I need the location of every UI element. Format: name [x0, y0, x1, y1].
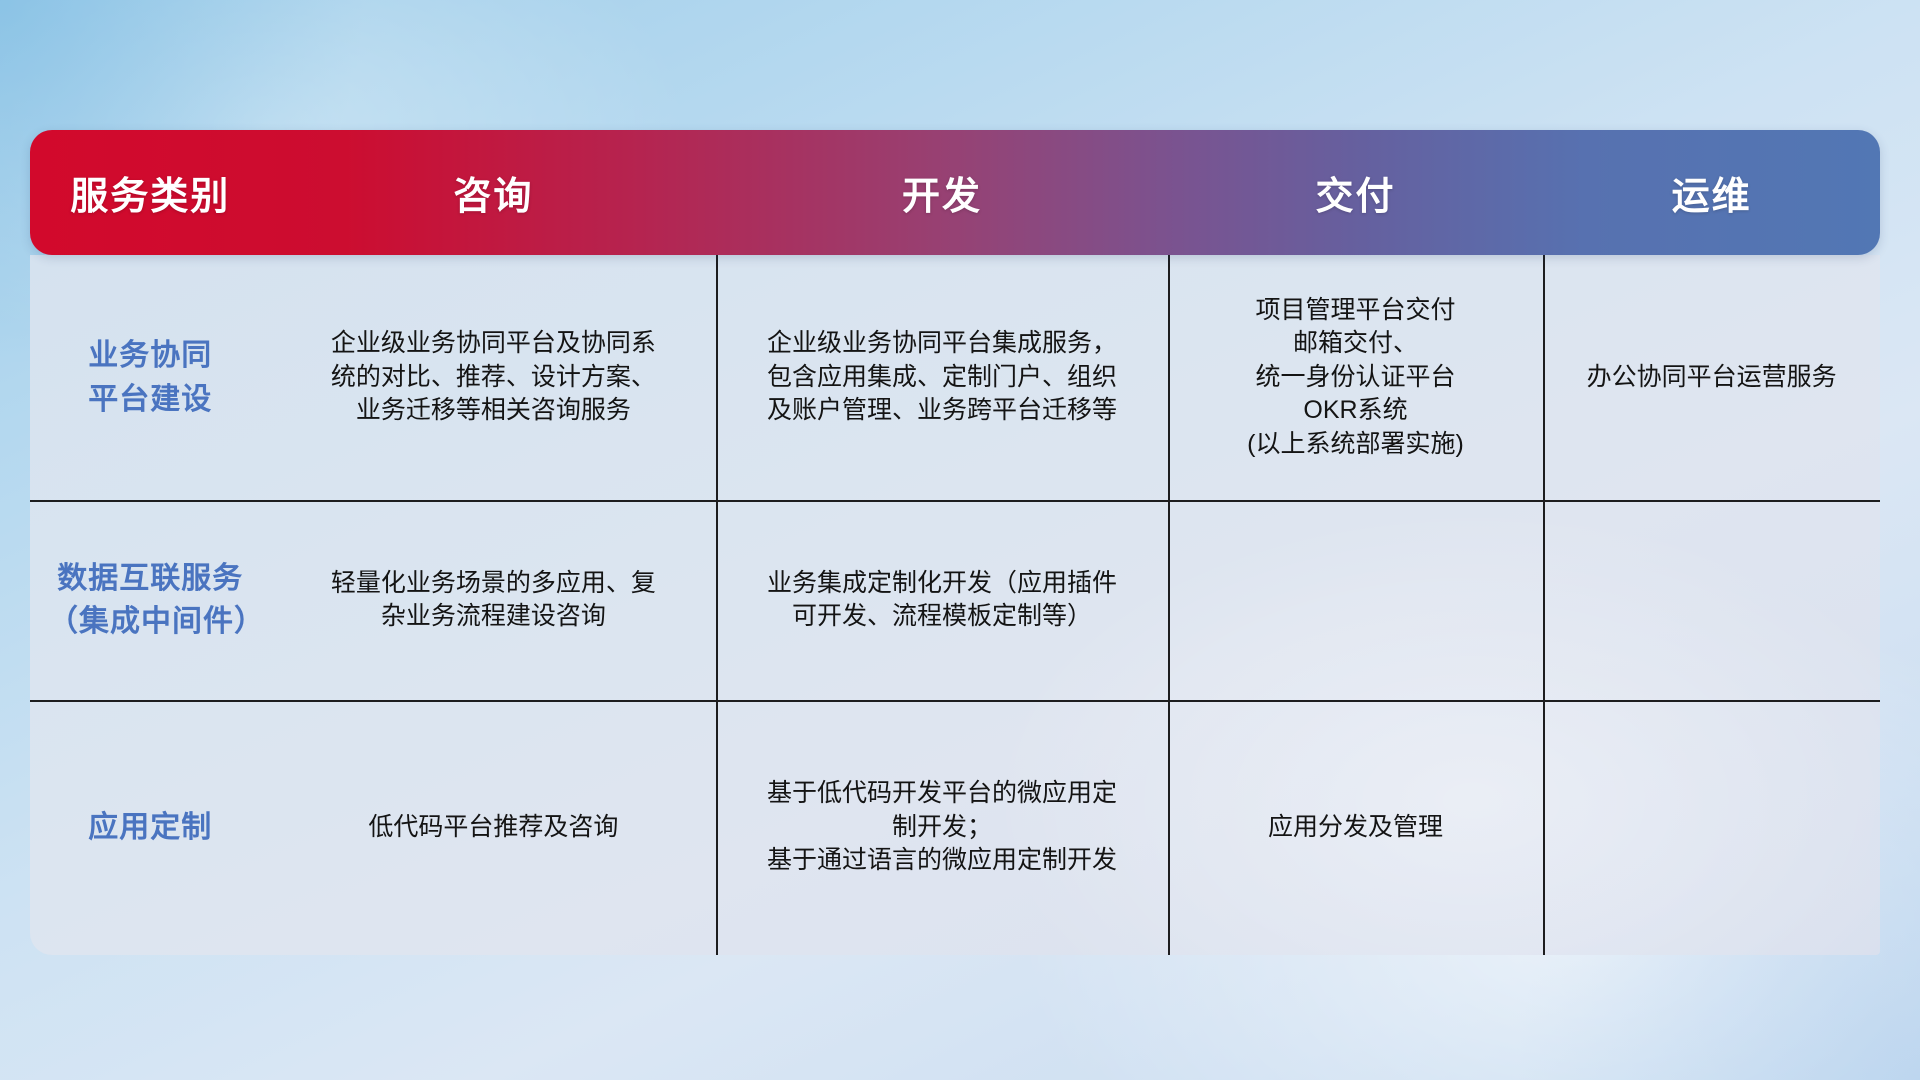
- column-header-development[interactable]: 开发: [716, 130, 1167, 255]
- grid-vline-delivery-operations: [1543, 255, 1545, 955]
- table-header-row: 服务类别 咨询 开发 交付 运维: [30, 130, 1880, 255]
- page-root: 服务类别 咨询 开发 交付 运维 业务协同 平台建设 企业级业务协同平台及协同系…: [0, 0, 1920, 1080]
- grid-hline-row1-row2: [30, 500, 1880, 502]
- cell-development-1: 企业级业务协同平台集成服务， 包含应用集成、定制门户、组织 及账户管理、业务跨平…: [716, 255, 1167, 500]
- cell-category-2: 数据互联服务 （集成中间件）: [30, 500, 271, 700]
- grid-hline-row2-row3: [30, 700, 1880, 702]
- grid-vline-consulting-development: [716, 255, 718, 955]
- column-header-category[interactable]: 服务类别: [30, 130, 271, 255]
- cell-consulting-1: 企业级业务协同平台及协同系 统的对比、推荐、设计方案、 业务迁移等相关咨询服务: [271, 255, 717, 500]
- cell-delivery-1: 项目管理平台交付 邮箱交付、 统一身份认证平台 OKR系统 (以上系统部署实施): [1168, 255, 1544, 500]
- cell-delivery-3: 应用分发及管理: [1168, 700, 1544, 955]
- table-row: 应用定制 低代码平台推荐及咨询 基于低代码开发平台的微应用定 制开发； 基于通过…: [30, 700, 1880, 955]
- cell-consulting-3: 低代码平台推荐及咨询: [271, 700, 717, 955]
- column-header-consulting[interactable]: 咨询: [271, 130, 717, 255]
- cell-development-3: 基于低代码开发平台的微应用定 制开发； 基于通过语言的微应用定制开发: [716, 700, 1167, 955]
- cell-consulting-2: 轻量化业务场景的多应用、复 杂业务流程建设咨询: [271, 500, 717, 700]
- column-header-delivery[interactable]: 交付: [1168, 130, 1544, 255]
- cell-category-1: 业务协同 平台建设: [30, 255, 271, 500]
- cell-delivery-2: [1168, 500, 1544, 700]
- table-body: 业务协同 平台建设 企业级业务协同平台及协同系 统的对比、推荐、设计方案、 业务…: [30, 255, 1880, 955]
- table-row: 业务协同 平台建设 企业级业务协同平台及协同系 统的对比、推荐、设计方案、 业务…: [30, 255, 1880, 500]
- grid-vline-development-delivery: [1168, 255, 1170, 955]
- cell-operations-1: 办公协同平台运营服务: [1543, 255, 1880, 500]
- column-header-operations[interactable]: 运维: [1543, 130, 1880, 255]
- table-row: 数据互联服务 （集成中间件） 轻量化业务场景的多应用、复 杂业务流程建设咨询 业…: [30, 500, 1880, 700]
- service-category-table: 服务类别 咨询 开发 交付 运维 业务协同 平台建设 企业级业务协同平台及协同系…: [30, 130, 1880, 955]
- cell-development-2: 业务集成定制化开发（应用插件 可开发、流程模板定制等）: [716, 500, 1167, 700]
- cell-category-3: 应用定制: [30, 700, 271, 955]
- cell-operations-3: [1543, 700, 1880, 955]
- cell-operations-2: [1543, 500, 1880, 700]
